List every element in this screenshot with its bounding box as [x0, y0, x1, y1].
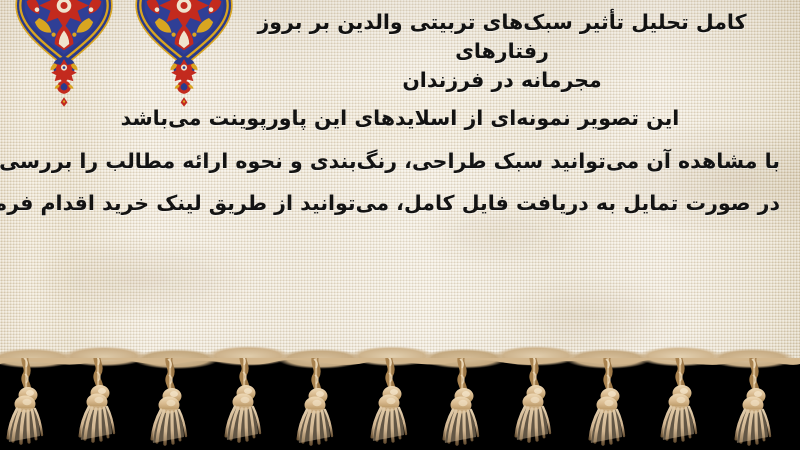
slide-title-line-1: کامل تحلیل تأثیر سبک‌های تربیتی والدین ب…: [222, 8, 782, 66]
body-line-design-review: با مشاهده آن می‌توانید سبک طراحی، رنگ‌بن…: [20, 151, 780, 172]
slide-title: کامل تحلیل تأثیر سبک‌های تربیتی والدین ب…: [222, 8, 782, 95]
carpet-fringe-band: [0, 358, 800, 450]
slide-body: این تصویر نمونه‌ای از اسلایدهای این پاور…: [20, 108, 780, 214]
carpet-knotted-fringe-icon: [0, 358, 800, 450]
body-line-purchase-link: در صورت تمایل به دریافت فایل کامل، می‌تو…: [20, 193, 780, 214]
slide-title-line-2: مجرمانه در فرزندان: [222, 66, 782, 95]
slide-canvas: کامل تحلیل تأثیر سبک‌های تربیتی والدین ب…: [0, 0, 800, 450]
body-line-sample-notice: این تصویر نمونه‌ای از اسلایدهای این پاور…: [20, 108, 780, 129]
